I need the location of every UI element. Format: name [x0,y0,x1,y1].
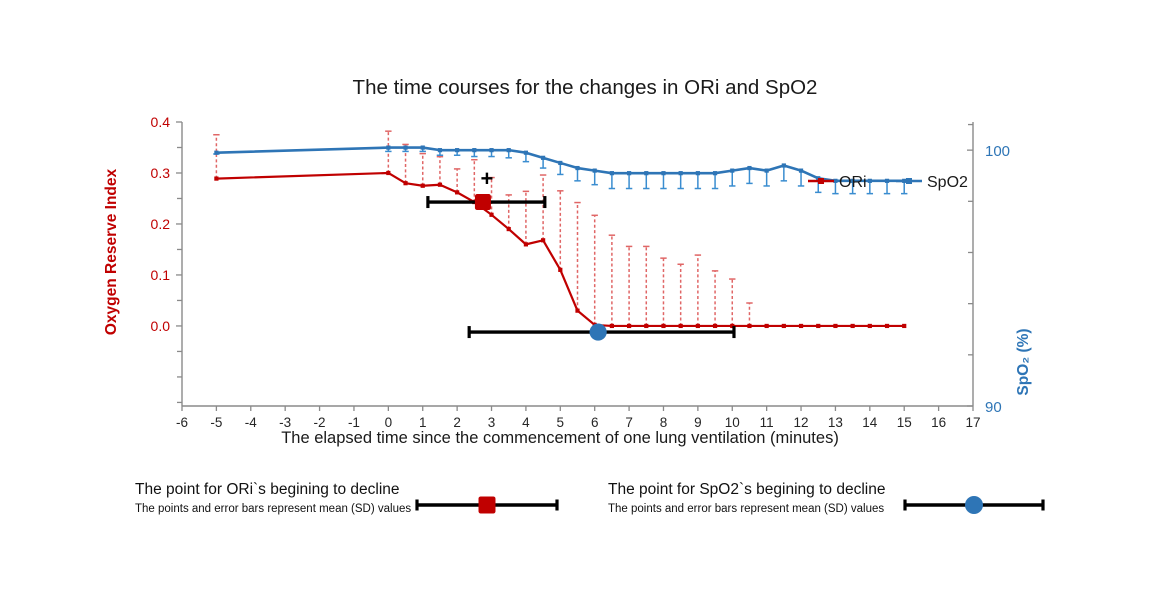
data-point-ori [851,324,855,328]
x-axis-tick-label: 4 [522,415,530,430]
data-point-spo2 [730,169,734,173]
data-point-ori [421,184,425,188]
y-axis-right-tick-label: 100 [985,143,1010,160]
data-point-ori [541,238,545,242]
x-axis-tick-label: 11 [760,415,774,430]
data-point-spo2 [747,166,751,170]
data-point-ori [696,324,700,328]
series-line-ori [216,173,904,326]
data-point-spo2 [489,148,493,152]
data-point-spo2 [627,171,631,175]
spo2-caption-marker [965,496,983,514]
data-point-ori [403,181,407,185]
data-point-spo2 [575,166,579,170]
data-point-ori [747,324,751,328]
chart-tick-labels: 0.00.10.20.30.490100-6-5-4-3-2-101234567… [151,114,1011,430]
data-point-spo2 [455,148,459,152]
data-point-spo2 [214,151,218,155]
legend-marker-spo2 [906,178,912,184]
data-point-ori [885,324,889,328]
data-point-spo2 [868,179,872,183]
x-axis-tick-label: 16 [931,415,946,430]
x-axis-title: The elapsed time since the commencement … [281,429,839,447]
y-axis-left-tick-label: 0.0 [151,318,171,334]
data-point-ori [816,324,820,328]
data-point-spo2 [403,145,407,149]
spo2-caption-subtitle: The points and error bars represent mean… [608,503,884,515]
data-point-spo2 [782,163,786,167]
x-axis-tick-label: 6 [591,415,599,430]
x-axis-tick-label: -2 [314,415,326,430]
data-point-ori [489,213,493,217]
page-title: The time courses for the changes in ORi … [353,76,818,99]
chart-axes [176,122,973,411]
x-axis-tick-label: 1 [419,415,427,430]
data-point-ori [765,324,769,328]
data-point-spo2 [593,169,597,173]
data-point-spo2 [507,148,511,152]
ori-decline-marker[interactable] [475,194,491,210]
data-point-ori [679,324,683,328]
data-point-spo2 [421,145,425,149]
data-point-ori [868,324,872,328]
data-point-spo2 [696,171,700,175]
x-axis-tick-label: -6 [176,415,188,430]
data-point-spo2 [661,171,665,175]
data-point-ori [610,324,614,328]
x-axis-tick-label: -5 [210,415,222,430]
x-axis-tick-label: -3 [279,415,291,430]
x-axis-tick-label: 3 [488,415,496,430]
data-point-spo2 [386,145,390,149]
data-point-spo2 [472,148,476,152]
data-point-ori [833,324,837,328]
ori-caption-marker [479,497,496,514]
data-point-ori [558,268,562,272]
x-axis-tick-label: -4 [245,415,257,430]
x-axis-tick-label: 7 [625,415,633,430]
legend-marker-ori [818,178,824,184]
data-point-ori [386,171,390,175]
data-point-ori [661,324,665,328]
data-point-ori [214,176,218,180]
data-point-spo2 [644,171,648,175]
data-point-spo2 [885,179,889,183]
x-axis-tick-label: 14 [862,415,878,430]
y-axis-left-title: Oxygen Reserve Index [103,168,120,335]
data-point-spo2 [558,161,562,165]
x-axis-tick-label: 15 [897,415,912,430]
y-axis-left-tick-label: 0.4 [151,114,171,130]
data-point-ori [799,324,803,328]
ori-caption-title: The point for ORi`s begining to decline [135,481,400,498]
legend-label-spo2[interactable]: SpO2 [927,174,968,191]
data-point-spo2 [610,171,614,175]
data-point-spo2 [765,169,769,173]
x-axis-tick-label: 8 [660,415,668,430]
data-point-ori [507,227,511,231]
figure-root: The time courses for the changes in ORi … [0,0,1171,591]
y-axis-right-title: SpO₂ (%) [1015,328,1032,395]
data-point-spo2 [713,171,717,175]
data-point-ori [782,324,786,328]
data-point-spo2 [541,156,545,160]
y-axis-left-tick-label: 0.2 [151,216,171,232]
x-axis-tick-label: 13 [828,415,843,430]
ori-caption-subtitle: The points and error bars represent mean… [135,503,411,515]
data-point-ori [575,309,579,313]
data-point-ori [438,183,442,187]
y-axis-right-tick-label: 90 [985,399,1002,416]
data-point-spo2 [679,171,683,175]
x-axis-tick-label: 5 [557,415,565,430]
y-axis-left-tick-label: 0.1 [151,267,171,283]
ori-spo2-time-course-chart: The time courses for the changes in ORi … [0,0,1171,591]
x-axis-tick-label: 0 [385,415,393,430]
data-point-ori [644,324,648,328]
x-axis-tick-label: -1 [348,415,360,430]
y-axis-left-tick-label: 0.3 [151,165,171,181]
legend-label-ori[interactable]: ORi [839,174,867,191]
significance-plus-icon: + [480,166,493,191]
x-axis-tick-label: 17 [965,415,980,430]
figure-captions: The point for ORi`s begining to declineT… [135,481,1043,515]
chart-error-bars [213,131,907,326]
x-axis-tick-label: 12 [794,415,809,430]
data-point-ori [524,242,528,246]
data-point-spo2 [438,148,442,152]
x-axis-tick-label: 2 [453,415,461,430]
data-point-ori [902,324,906,328]
data-point-ori [455,190,459,194]
data-point-spo2 [799,169,803,173]
spo2-decline-marker[interactable] [590,323,607,340]
data-point-ori [627,324,631,328]
data-point-spo2 [524,151,528,155]
x-axis-tick-label: 10 [725,415,740,430]
x-axis-tick-label: 9 [694,415,702,430]
data-point-ori [713,324,717,328]
spo2-caption-title: The point for SpO2`s begining to decline [608,481,885,498]
